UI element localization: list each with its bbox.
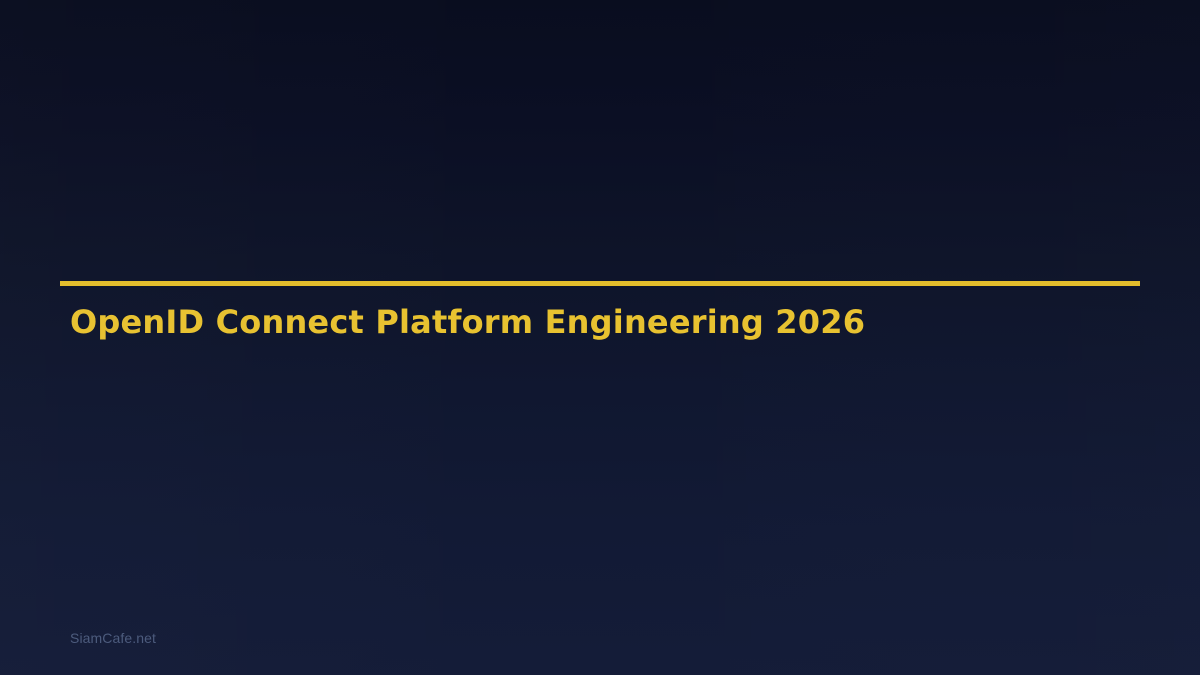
presentation-slide: OpenID Connect Platform Engineering 2026… [0, 0, 1200, 675]
footer-watermark: SiamCafe.net [70, 630, 156, 646]
slide-title: OpenID Connect Platform Engineering 2026 [60, 286, 1140, 341]
title-block: OpenID Connect Platform Engineering 2026 [60, 281, 1140, 341]
